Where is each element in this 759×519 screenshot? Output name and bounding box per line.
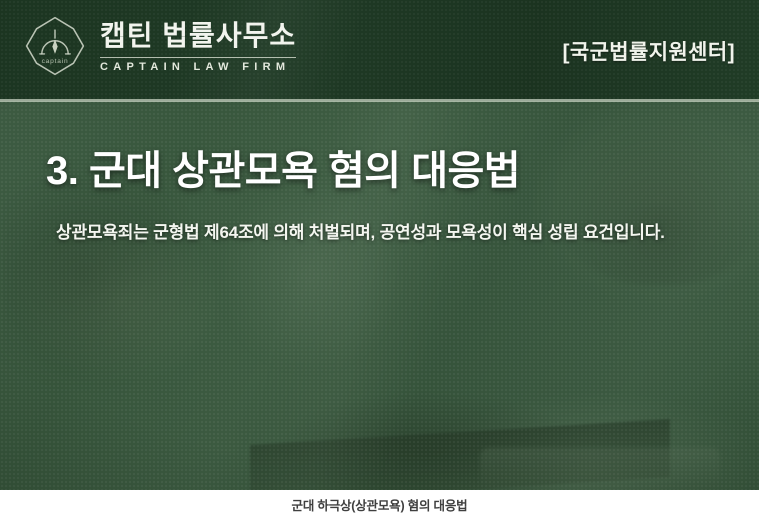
page-title: 3. 군대 상관모욕 혐의 대응법 [46,149,520,194]
brand-wordmark: 캡틴 법률사무소 CAPTAIN LAW FIRM [100,19,296,72]
steps-row: 1. 즉각적인 사과 및 반성 2. 객관적 증거 확보 3. 군 전문 변호사… [0,298,759,470]
header-divider-line [0,99,759,102]
brand-logo[interactable]: captain 캡틴 법률사무소 CAPTAIN LAW FIRM [22,13,296,79]
caption-strip: 군대 하극상(상관모욕) 혐의 대응법 [0,490,759,519]
caption-text: 군대 하극상(상관모욕) 혐의 대응법 [292,495,468,514]
artwork-panel: captain 캡틴 법률사무소 CAPTAIN LAW FIRM [국군법률지… [0,0,759,490]
brand-name-ko: 캡틴 법률사무소 [100,21,296,51]
header-badge: [국군법률지원센터] [562,36,735,66]
emblem-word: captain [42,58,69,65]
infographic-canvas: captain 캡틴 법률사무소 CAPTAIN LAW FIRM [국군법률지… [0,0,759,519]
header-bar: captain 캡틴 법률사무소 CAPTAIN LAW FIRM [국군법률지… [0,0,759,101]
brand-name-en: CAPTAIN LAW FIRM [100,62,296,73]
captain-shield-emblem-icon: captain [22,13,88,79]
page-subtitle: 상관모욕죄는 군형법 제64조에 의해 처벌되며, 공연성과 모욕성이 핵심 성… [56,219,716,247]
brand-divider [100,57,296,58]
